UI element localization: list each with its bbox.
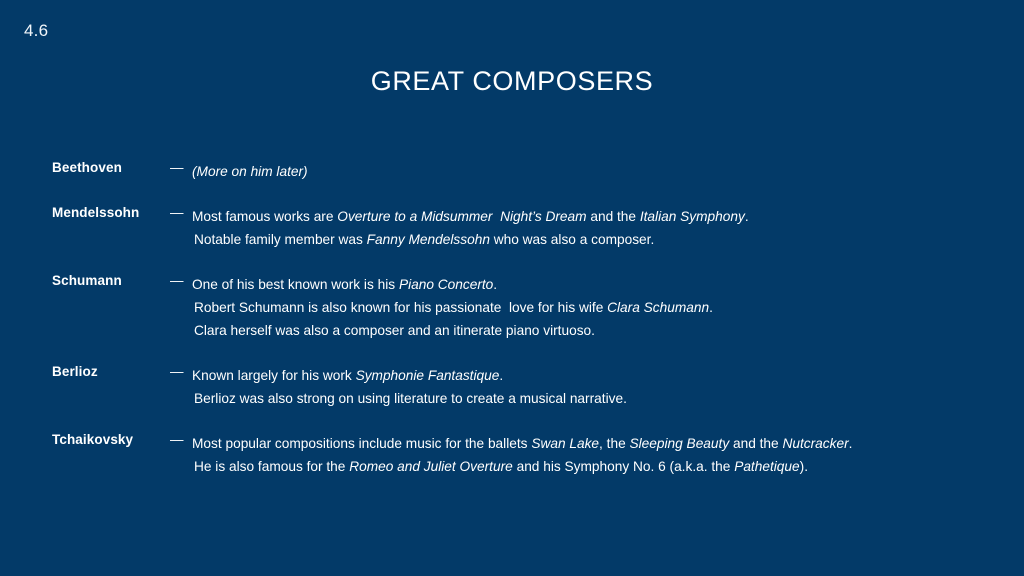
body-text: Known largely for his work — [192, 368, 356, 383]
composer-entry: Mendelssohn—Most famous works are Overtu… — [52, 205, 1004, 251]
composer-description: One of his best known work is his Piano … — [192, 273, 1004, 342]
composer-list: Beethoven—(More on him later)Mendelssohn… — [52, 160, 1004, 478]
slide-canvas: 4.6 GREAT COMPOSERS Beethoven—(More on h… — [0, 0, 1024, 576]
composer-entry: Tchaikovsky—Most popular compositions in… — [52, 432, 1004, 478]
description-line: Robert Schumann is also known for his pa… — [192, 296, 1004, 319]
body-text: ). — [800, 459, 808, 474]
page-title: GREAT COMPOSERS — [0, 66, 1024, 97]
work-title-italic: Piano Concerto — [399, 277, 493, 292]
body-text: . — [745, 209, 749, 224]
work-title-italic: Symphonie Fantastique — [356, 368, 500, 383]
composer-name: Mendelssohn — [52, 205, 139, 220]
body-text: Most famous works are — [192, 209, 337, 224]
body-text: and the — [587, 209, 640, 224]
work-title-italic: Italian Symphony — [640, 209, 745, 224]
body-text: . — [493, 277, 497, 292]
em-dash-separator: — — [170, 432, 184, 447]
em-dash-separator: — — [170, 364, 184, 379]
body-text: and his Symphony No. 6 (a.k.a. the — [513, 459, 734, 474]
composer-description: Most popular compositions include music … — [192, 432, 1004, 478]
description-line: Known largely for his work Symphonie Fan… — [192, 364, 1004, 387]
em-dash-separator: — — [170, 205, 184, 220]
description-line: Berlioz was also strong on using literat… — [192, 387, 1004, 410]
body-text: Berlioz was also strong on using literat… — [194, 391, 627, 406]
description-line: One of his best known work is his Piano … — [192, 273, 1004, 296]
work-title-italic: Fanny Mendelssohn — [367, 232, 490, 247]
work-title-italic: Pathetique — [734, 459, 799, 474]
body-text: who was also a composer. — [490, 232, 654, 247]
body-text: Most popular compositions include music … — [192, 436, 531, 451]
composer-entry: Berlioz—Known largely for his work Symph… — [52, 364, 1004, 410]
body-text: . — [849, 436, 853, 451]
composer-description: Known largely for his work Symphonie Fan… — [192, 364, 1004, 410]
description-line: (More on him later) — [192, 160, 1004, 183]
body-text: Robert Schumann is also known for his pa… — [194, 300, 607, 315]
work-title-italic: Overture to a Midsummer Night’s Dream — [337, 209, 586, 224]
composer-description: Most famous works are Overture to a Mids… — [192, 205, 1004, 251]
body-text: and the — [729, 436, 782, 451]
body-text: Notable family member was — [194, 232, 367, 247]
body-text: , the — [599, 436, 629, 451]
slide-number: 4.6 — [24, 21, 48, 41]
composer-name: Beethoven — [52, 160, 122, 175]
body-text: . — [709, 300, 713, 315]
work-title-italic: Nutcracker — [782, 436, 848, 451]
composer-name: Tchaikovsky — [52, 432, 133, 447]
work-title-italic: Sleeping Beauty — [629, 436, 729, 451]
composer-name: Berlioz — [52, 364, 98, 379]
body-text: He is also famous for the — [194, 459, 349, 474]
description-line: Clara herself was also a composer and an… — [192, 319, 1004, 342]
body-text: . — [499, 368, 503, 383]
description-line: Most popular compositions include music … — [192, 432, 1004, 455]
description-line: Notable family member was Fanny Mendelss… — [192, 228, 1004, 251]
composer-entry: Schumann—One of his best known work is h… — [52, 273, 1004, 342]
description-line: He is also famous for the Romeo and Juli… — [192, 455, 1004, 478]
work-title-italic: (More on him later) — [192, 164, 308, 179]
em-dash-separator: — — [170, 273, 184, 288]
body-text: One of his best known work is his — [192, 277, 399, 292]
em-dash-separator: — — [170, 160, 184, 175]
composer-description: (More on him later) — [192, 160, 1004, 183]
work-title-italic: Clara Schumann — [607, 300, 709, 315]
work-title-italic: Swan Lake — [531, 436, 599, 451]
composer-entry: Beethoven—(More on him later) — [52, 160, 1004, 183]
description-line: Most famous works are Overture to a Mids… — [192, 205, 1004, 228]
work-title-italic: Romeo and Juliet Overture — [349, 459, 513, 474]
body-text: Clara herself was also a composer and an… — [194, 323, 595, 338]
composer-name: Schumann — [52, 273, 122, 288]
